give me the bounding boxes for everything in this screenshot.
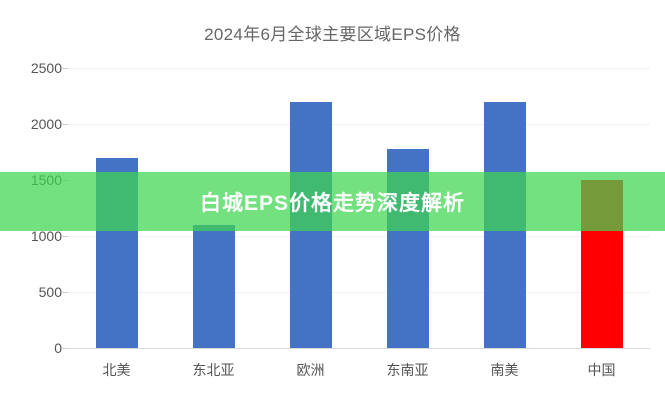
overlay-banner-text: 白城EPS价格走势深度解析 bbox=[200, 187, 465, 217]
x-axis-label-中国: 中国 bbox=[588, 360, 616, 380]
x-axis-label-东北亚: 东北亚 bbox=[193, 360, 235, 380]
chart-container: 2024年6月全球主要区域EPS价格 05001000150020002500 … bbox=[0, 0, 665, 400]
x-axis-baseline bbox=[68, 348, 650, 349]
y-axis-tick-label: 500 bbox=[8, 284, 62, 300]
x-axis-label-东南亚: 东南亚 bbox=[387, 360, 429, 380]
y-axis-tick-label: 0 bbox=[8, 340, 62, 356]
bar-东北亚[interactable] bbox=[193, 225, 235, 348]
chart-title: 2024年6月全球主要区域EPS价格 bbox=[0, 20, 665, 45]
x-axis-category-labels: 北美东北亚欧洲东南亚南美中国 bbox=[68, 360, 650, 390]
x-axis-label-南美: 南美 bbox=[491, 360, 519, 380]
overlay-banner: 白城EPS价格走势深度解析 bbox=[0, 172, 665, 231]
x-axis-label-欧洲: 欧洲 bbox=[297, 360, 325, 380]
y-axis-tick-label: 2000 bbox=[8, 116, 62, 132]
x-axis-label-北美: 北美 bbox=[103, 360, 131, 380]
y-axis-tick-label: 2500 bbox=[8, 60, 62, 76]
